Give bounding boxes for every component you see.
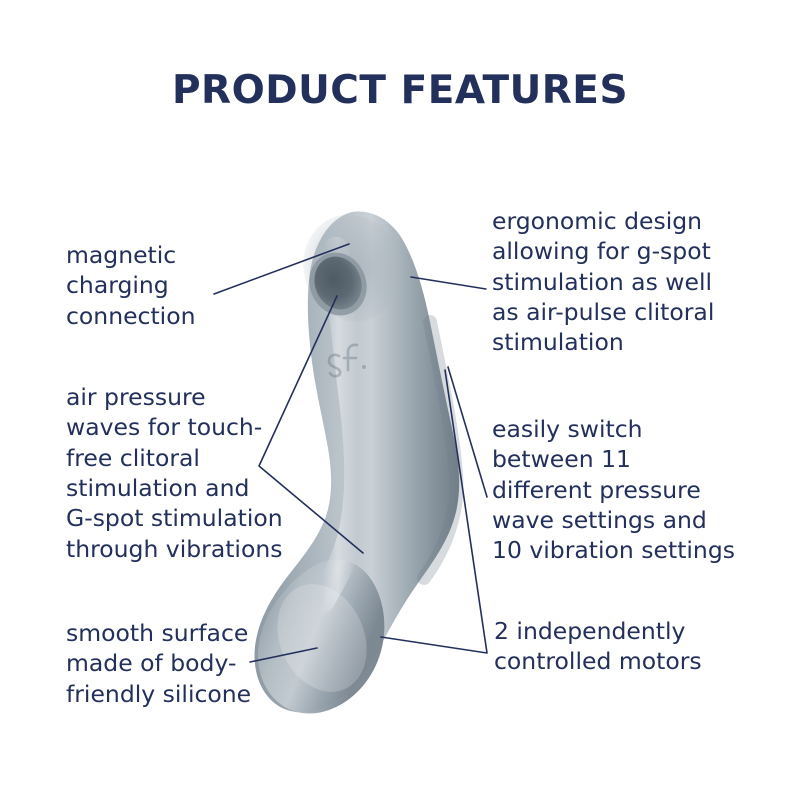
leader-line-settings	[448, 367, 487, 497]
callout-pressure-wave-settings: easily switch between 11 different press…	[492, 414, 750, 566]
leader-line-motors	[381, 370, 487, 653]
air-pulse-opening	[300, 244, 376, 324]
callout-magnetic-charging: magnetic charging connection	[66, 240, 286, 331]
product-features-infographic: PRODUCT FEATURES	[0, 0, 800, 800]
callout-independent-motors: 2 independently controlled motors	[494, 616, 744, 677]
callout-ergonomic-design: ergonomic design allowing for g-spot sti…	[492, 206, 742, 358]
page-title: PRODUCT FEATURES	[0, 68, 800, 113]
leader-line-ergonomic	[411, 277, 486, 289]
callout-air-pressure-waves: air pressure waves for touch- free clito…	[66, 382, 316, 564]
callout-smooth-surface: smooth surface made of body- friendly si…	[66, 618, 306, 709]
satisfyer-logo-icon	[329, 345, 366, 376]
